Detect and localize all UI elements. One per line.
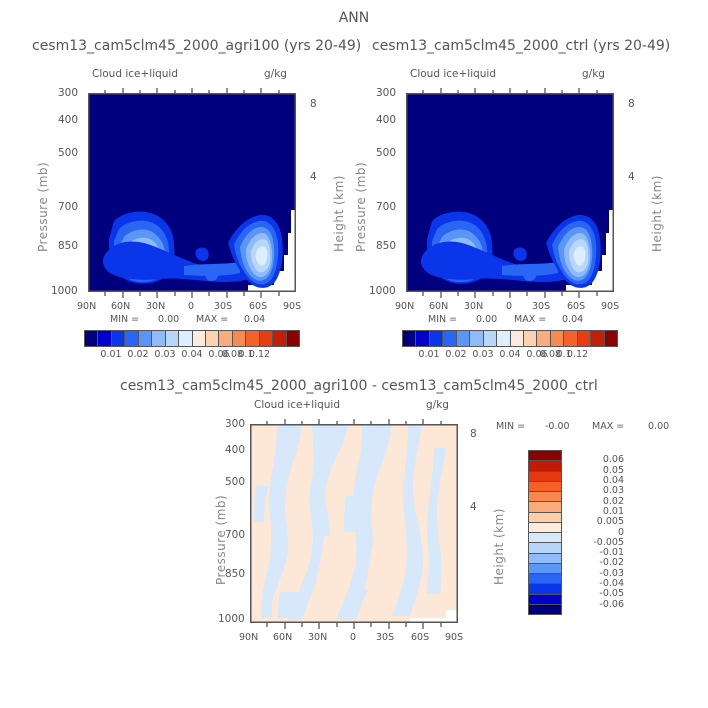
colorbar-tick-label: 0.03 [472,349,493,360]
colorbar-swatch[interactable] [529,573,561,583]
colorbar-swatch[interactable] [429,331,442,346]
ytick-left-5: 1000 [51,285,78,297]
panel-left-min-label: MIN = [110,314,139,325]
colorbar-right[interactable] [402,330,618,347]
panel-left-title: cesm13_cam5clm45_2000_agri100 (yrs 20-49… [32,38,361,54]
colorbar-tick-label: 0.01 [418,349,439,360]
colorbar-swatch[interactable] [415,331,428,346]
panel-diff-units: g/kg [426,399,449,411]
colorbar-swatch[interactable] [245,331,258,346]
colorbar-swatch[interactable] [529,522,561,532]
colorbar-tick-label: 0.02 [127,349,148,360]
colorbar-swatch[interactable] [456,331,469,346]
panel-right-max-value: 0.04 [562,314,583,325]
colorbar-tick-label: 0.02 [445,349,466,360]
colorbar-tick-label: 0.03 [154,349,175,360]
colorbar-swatch[interactable] [178,331,191,346]
panel-left-variable-label: Cloud ice+liquid [92,68,178,80]
colorbar-swatch[interactable] [232,331,245,346]
ytick-left-2: 500 [58,147,78,159]
panel-left-bottom-ticks [88,292,296,300]
ytick-diff-1: 400 [225,444,245,456]
colorbar-swatch[interactable] [165,331,178,346]
colorbar-swatch[interactable] [496,331,509,346]
colorbar-tick-label: -0.06 [599,599,624,610]
xtick-diff-6: 90S [445,632,463,643]
colorbar-swatch[interactable] [403,331,415,346]
xtick-left-3: 0 [188,301,194,312]
colorbar-swatch[interactable] [111,331,124,346]
ytick-left-0: 300 [58,87,78,99]
y2tick-left-1: 4 [310,171,317,183]
colorbar-swatch[interactable] [529,532,561,542]
colorbar-swatch[interactable] [529,553,561,563]
colorbar-swatch[interactable] [442,331,455,346]
colorbar-swatch[interactable] [529,481,561,491]
panel-left-y2label: Height (km) [332,175,346,252]
y2tick-right-1: 4 [628,171,635,183]
ytick-right-5: 1000 [369,285,396,297]
panel-diff-top-ticks [250,417,458,425]
season-title: ANN [0,10,708,26]
panel-left-plot[interactable] [88,93,296,292]
panel-right-max-label: MAX = [514,314,546,325]
xtick-left-4: 30S [214,301,232,312]
ytick-diff-2: 500 [225,476,245,488]
panel-right-title: cesm13_cam5clm45_2000_ctrl (yrs 20-49) [372,38,670,54]
xtick-right-6: 90S [601,301,619,312]
colorbar-tick-label: 0.04 [181,349,202,360]
panel-right-y2label: Height (km) [650,175,664,252]
colorbar-swatch[interactable] [536,331,549,346]
xtick-diff-4: 30S [376,632,394,643]
xtick-diff-0: 90N [239,632,258,643]
panel-right-ylabel: Pressure (mb) [354,162,368,252]
panel-right-top-ticks [406,86,614,94]
xtick-diff-1: 60N [273,632,292,643]
ytick-right-2: 500 [376,147,396,159]
panel-diff-min-label: MIN = [496,421,525,432]
xtick-diff-5: 60S [411,632,429,643]
colorbar-swatch[interactable] [483,331,496,346]
ytick-diff-0: 300 [225,418,245,430]
panel-left-max-label: MAX = [196,314,228,325]
ytick-diff-4: 850 [225,568,245,580]
panel-diff-max-label: MAX = [592,421,624,432]
colorbar-swatch[interactable] [259,331,272,346]
colorbar-swatch[interactable] [510,331,523,346]
colorbar-swatch[interactable] [523,331,536,346]
colorbar-diff-ticklabels: 0.060.050.040.030.020.010.0050-0.005-0.0… [566,450,624,615]
xtick-left-6: 90S [283,301,301,312]
colorbar-swatch[interactable] [563,331,576,346]
colorbar-swatch[interactable] [529,471,561,481]
panel-right-units: g/kg [582,68,605,80]
ytick-diff-5: 1000 [218,613,245,625]
xtick-right-3: 0 [506,301,512,312]
colorbar-swatch[interactable] [529,460,561,470]
xtick-left-0: 90N [77,301,96,312]
panel-diff-plot[interactable] [250,424,458,623]
panel-left-max-value: 0.04 [244,314,265,325]
colorbar-swatch[interactable] [529,542,561,552]
panel-right-min-label: MIN = [428,314,457,325]
colorbar-tick-label: 0.04 [499,349,520,360]
ytick-left-4: 850 [58,240,78,252]
panel-diff-title: cesm13_cam5clm45_2000_agri100 - cesm13_c… [120,378,598,394]
xtick-left-2: 30N [146,301,165,312]
panel-diff-variable-label: Cloud ice+liquid [254,399,340,411]
panel-right-bottom-ticks [406,292,614,300]
ytick-right-1: 400 [376,114,396,126]
panel-diff-y2label: Height (km) [492,508,506,585]
panel-right-min-value: 0.00 [476,314,497,325]
colorbar-swatch[interactable] [97,331,110,346]
panel-left-top-ticks [88,86,296,94]
ytick-left-1: 400 [58,114,78,126]
colorbar-swatch[interactable] [218,331,231,346]
colorbar-swatch[interactable] [529,583,561,593]
xtick-left-5: 60S [249,301,267,312]
colorbar-swatch[interactable] [590,331,603,346]
colorbar-swatch[interactable] [529,451,561,460]
colorbar-tick-label: 0.12 [249,349,270,360]
ytick-right-0: 300 [376,87,396,99]
colorbar-swatch[interactable] [272,331,285,346]
colorbar-swatch[interactable] [151,331,164,346]
colorbar-swatch[interactable] [550,331,563,346]
colorbar-right-ticklabels: 0.010.020.030.040.060.080.10.12 [402,349,618,361]
colorbar-swatch[interactable] [192,331,205,346]
xtick-left-1: 60N [111,301,130,312]
panel-left-ylabel: Pressure (mb) [36,162,50,252]
colorbar-swatch[interactable] [604,331,617,346]
colorbar-swatch[interactable] [529,491,561,501]
colorbar-swatch[interactable] [124,331,137,346]
xtick-right-0: 90N [395,301,414,312]
xtick-right-5: 60S [567,301,585,312]
colorbar-left-ticklabels: 0.010.020.030.040.060.080.10.12 [84,349,300,361]
colorbar-swatch[interactable] [205,331,218,346]
panel-diff-bottom-ticks [250,623,458,631]
colorbar-tick-label: 0.01 [100,349,121,360]
ytick-right-4: 850 [376,240,396,252]
ytick-right-3: 700 [376,201,396,213]
panel-left-units: g/kg [264,68,287,80]
xtick-right-4: 30S [532,301,550,312]
colorbar-tick-label: 0.12 [567,349,588,360]
y2tick-diff-0: 8 [470,428,477,440]
colorbar-swatch[interactable] [85,331,97,346]
colorbar-swatch[interactable] [577,331,590,346]
colorbar-swatch[interactable] [529,501,561,511]
panel-diff-max-value: 0.00 [648,421,669,432]
colorbar-swatch[interactable] [529,594,561,604]
panel-right-variable-label: Cloud ice+liquid [410,68,496,80]
colorbar-left[interactable] [84,330,300,347]
xtick-right-2: 30N [464,301,483,312]
xtick-right-1: 60N [429,301,448,312]
colorbar-swatch[interactable] [138,331,151,346]
xtick-diff-3: 0 [350,632,356,643]
colorbar-swatch[interactable] [286,331,299,346]
panel-left-min-value: 0.00 [158,314,179,325]
ytick-left-3: 700 [58,201,78,213]
colorbar-swatch[interactable] [529,512,561,522]
colorbar-swatch[interactable] [529,563,561,573]
panel-right-plot[interactable] [406,93,614,292]
colorbar-swatch[interactable] [529,604,561,614]
y2tick-diff-1: 4 [470,501,477,513]
colorbar-diff[interactable] [528,450,562,615]
colorbar-swatch[interactable] [469,331,482,346]
y2tick-right-0: 8 [628,98,635,110]
y2tick-left-0: 8 [310,98,317,110]
panel-diff-min-value: -0.00 [545,421,570,432]
ytick-diff-3: 700 [225,529,245,541]
xtick-diff-2: 30N [308,632,327,643]
